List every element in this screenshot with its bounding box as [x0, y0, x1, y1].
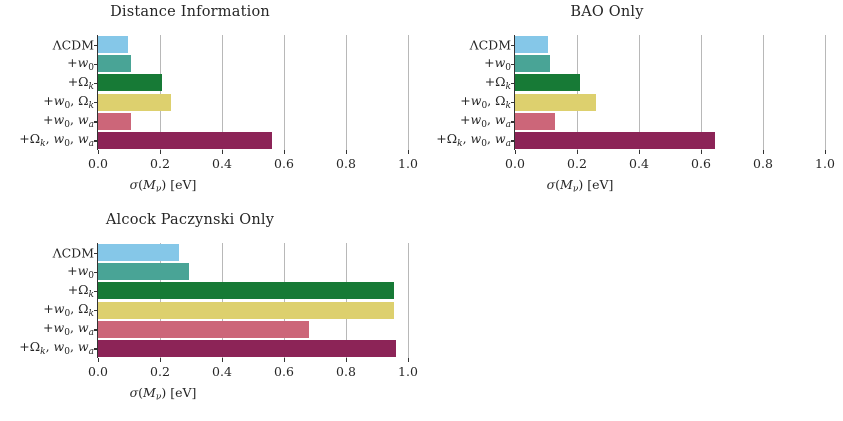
figure-canvas: Distance Information ΛCDM +w0 +Ωk +w0, Ω…	[0, 0, 843, 421]
panel-title-ap: Alcock Paczynski Only	[0, 212, 400, 228]
x-tick-label-0: 0.0	[88, 364, 108, 379]
y-tick-lcdm: ΛCDM	[53, 37, 94, 52]
panel-title-bao: BAO Only	[397, 4, 817, 20]
bar-lcdm	[515, 36, 548, 53]
bar-w0-omegak	[98, 302, 394, 319]
panel-alcock-paczynski-only: Alcock Paczynski Only ΛCDM +w0 +Ωk +w0, …	[0, 212, 420, 417]
x-tick-mark	[408, 150, 409, 154]
panel-title-distance: Distance Information	[0, 4, 400, 20]
gridline-0.8	[763, 35, 764, 150]
x-tick-mark	[160, 150, 161, 154]
y-tick-omegak: +Ωk	[68, 74, 94, 92]
y-axis-labels-bao: ΛCDM +w0 +Ωk +w0, Ωk +w0, wa +Ωk, w0, wa	[417, 35, 511, 150]
x-axis-label: σ(Mν) [eV]	[0, 385, 326, 403]
x-tick-label-3: 0.6	[274, 156, 294, 171]
x-tick-mark	[825, 150, 826, 154]
x-tick-mark	[98, 358, 99, 362]
bar-omegak	[98, 74, 162, 91]
y-tick-w0-wa: +w0, wa	[43, 321, 94, 339]
bar-omegak-w0-wa	[98, 132, 272, 149]
x-tick-label-4: 0.8	[753, 156, 773, 171]
bar-w0-wa	[515, 113, 555, 130]
bar-w0-omegak	[515, 94, 596, 111]
x-tick-mark	[222, 358, 223, 362]
bar-omegak	[98, 282, 394, 299]
gridline-1.0	[408, 35, 409, 150]
gridline-0.8	[346, 35, 347, 150]
bar-w0-wa	[98, 113, 131, 130]
x-tick-mark	[98, 150, 99, 154]
plot-area-ap: 0.0 0.2 0.4 0.6 0.8 1.0 σ(Mν) [eV]	[98, 243, 424, 358]
x-tick-label-4: 0.8	[336, 156, 356, 171]
panel-distance-information: Distance Information ΛCDM +w0 +Ωk +w0, Ω…	[0, 4, 420, 204]
bar-omegak	[515, 74, 580, 91]
y-tick-w0-omegak: +w0, Ωk	[43, 301, 94, 319]
x-tick-mark	[346, 358, 347, 362]
x-tick-label-3: 0.6	[274, 364, 294, 379]
y-tick-omegak: +Ωk	[485, 74, 511, 92]
x-axis-label: σ(Mν) [eV]	[0, 177, 326, 195]
gridline-0.6	[284, 35, 285, 150]
x-tick-label-3: 0.6	[691, 156, 711, 171]
x-tick-mark	[577, 150, 578, 154]
x-axis-label: σ(Mν) [eV]	[417, 177, 743, 195]
x-tick-label-5: 1.0	[398, 156, 418, 171]
panel-bao-only: BAO Only ΛCDM +w0 +Ωk +w0, Ωk +w0, wa +Ω…	[417, 4, 837, 204]
y-tick-omegak-w0-wa: +Ωk, w0, wa	[19, 132, 94, 150]
y-tick-omegak-w0-wa: +Ωk, w0, wa	[436, 132, 511, 150]
y-tick-omegak-w0-wa: +Ωk, w0, wa	[19, 340, 94, 358]
bar-w0-wa	[98, 321, 309, 338]
y-tick-lcdm: ΛCDM	[53, 245, 94, 260]
x-tick-label-1: 0.2	[150, 364, 170, 379]
bar-omegak-w0-wa	[98, 340, 396, 357]
x-tick-label-2: 0.4	[212, 364, 232, 379]
x-tick-mark	[701, 150, 702, 154]
bar-w0-omegak	[98, 94, 171, 111]
y-tick-w0-wa: +w0, wa	[43, 113, 94, 131]
x-tick-label-2: 0.4	[212, 156, 232, 171]
x-tick-mark	[763, 150, 764, 154]
bar-w0	[98, 263, 189, 280]
y-tick-w0: +w0	[67, 55, 94, 73]
x-tick-label-2: 0.4	[629, 156, 649, 171]
y-tick-w0: +w0	[67, 263, 94, 281]
x-tick-label-1: 0.2	[567, 156, 587, 171]
y-tick-omegak: +Ωk	[68, 282, 94, 300]
x-tick-mark	[160, 358, 161, 362]
x-tick-label-4: 0.8	[336, 364, 356, 379]
y-tick-w0-omegak: +w0, Ωk	[460, 93, 511, 111]
x-tick-label-5: 1.0	[398, 364, 418, 379]
bar-lcdm	[98, 36, 128, 53]
y-axis-labels-distance: ΛCDM +w0 +Ωk +w0, Ωk +w0, wa +Ωk, w0, wa	[0, 35, 94, 150]
x-tick-mark	[408, 358, 409, 362]
x-tick-mark	[284, 358, 285, 362]
x-tick-mark	[222, 150, 223, 154]
y-tick-lcdm: ΛCDM	[470, 37, 511, 52]
gridline-1.0	[408, 243, 409, 358]
bar-w0	[515, 55, 550, 72]
x-tick-mark	[284, 150, 285, 154]
x-tick-mark	[639, 150, 640, 154]
y-tick-w0-wa: +w0, wa	[460, 113, 511, 131]
x-tick-label-0: 0.0	[88, 156, 108, 171]
y-tick-w0: +w0	[484, 55, 511, 73]
x-tick-mark	[515, 150, 516, 154]
bar-w0	[98, 55, 131, 72]
y-tick-w0-omegak: +w0, Ωk	[43, 93, 94, 111]
x-tick-label-1: 0.2	[150, 156, 170, 171]
plot-area-bao: 0.0 0.2 0.4 0.6 0.8 1.0 σ(Mν) [eV]	[515, 35, 841, 150]
plot-area-distance: 0.0 0.2 0.4 0.6 0.8 1.0 σ(Mν) [eV]	[98, 35, 424, 150]
bar-lcdm	[98, 244, 179, 261]
gridline-1.0	[825, 35, 826, 150]
bar-omegak-w0-wa	[515, 132, 715, 149]
x-tick-mark	[346, 150, 347, 154]
y-axis-labels-ap: ΛCDM +w0 +Ωk +w0, Ωk +w0, wa +Ωk, w0, wa	[0, 243, 94, 358]
x-tick-label-5: 1.0	[815, 156, 835, 171]
x-tick-label-0: 0.0	[505, 156, 525, 171]
